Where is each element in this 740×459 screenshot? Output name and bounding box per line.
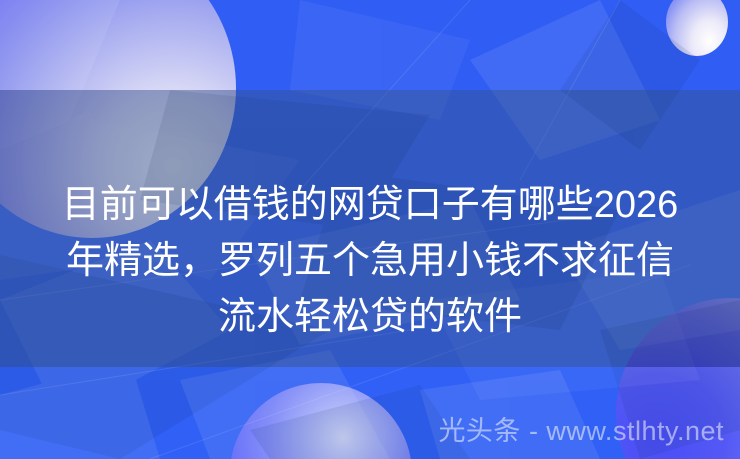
cover-banner: 目前可以借钱的网贷口子有哪些2026 年精选，罗列五个急用小钱不求征信 流水轻松…: [0, 0, 740, 459]
site-watermark: 光头条 - www.stlhty.net: [438, 414, 724, 448]
page-title: 目前可以借钱的网贷口子有哪些2026 年精选，罗列五个急用小钱不求征信 流水轻松…: [0, 177, 740, 345]
